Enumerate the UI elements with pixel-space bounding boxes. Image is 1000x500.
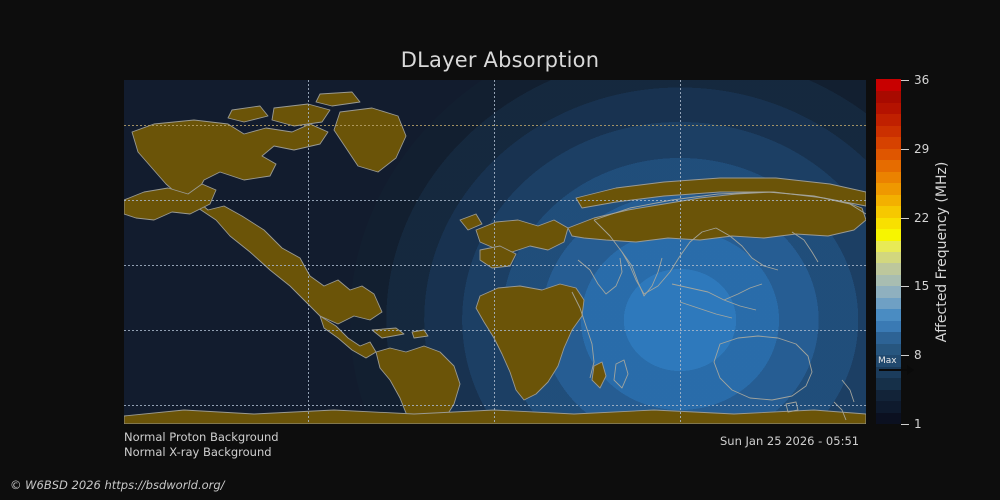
colorbar-tick-label: 15 bbox=[914, 279, 929, 293]
colorbar-segment bbox=[876, 114, 901, 126]
colorbar-segment bbox=[876, 102, 901, 114]
colorbar-tick bbox=[901, 286, 909, 287]
colorbar-segment bbox=[876, 217, 901, 229]
colorbar-segment bbox=[876, 343, 901, 355]
colorbar-tick bbox=[901, 218, 909, 219]
colorbar-segment bbox=[876, 297, 901, 309]
colorbar-tick-label: 1 bbox=[914, 417, 922, 431]
dlayer-absorption-page: DLayer Absorption bbox=[0, 0, 1000, 500]
colorbar-segment bbox=[876, 263, 901, 275]
colorbar-segment bbox=[876, 125, 901, 137]
colorbar-tick-label: 36 bbox=[914, 73, 929, 87]
colorbar-segment bbox=[876, 389, 901, 401]
page-title: DLayer Absorption bbox=[0, 48, 1000, 72]
colorbar-tick bbox=[901, 149, 909, 150]
status-xray: Normal X-ray Background bbox=[124, 445, 279, 460]
max-arrow-head bbox=[907, 365, 914, 375]
colorbar-segment bbox=[876, 320, 901, 332]
timestamp: Sun Jan 25 2026 - 05:51 bbox=[720, 434, 859, 448]
colorbar-segment bbox=[876, 160, 901, 172]
status-proton: Normal Proton Background bbox=[124, 430, 279, 445]
colorbar-segment bbox=[876, 251, 901, 263]
colorbar-segment bbox=[876, 286, 901, 298]
colorbar-segment bbox=[876, 274, 901, 286]
colorbar-tick-label: 22 bbox=[914, 211, 929, 225]
colorbar-segment bbox=[876, 206, 901, 218]
colorbar-segment bbox=[876, 137, 901, 149]
colorbar-segment bbox=[876, 194, 901, 206]
colorbar-segment bbox=[876, 79, 901, 91]
colorbar-segment bbox=[876, 332, 901, 344]
colorbar-max-marker: Max bbox=[877, 356, 917, 382]
colorbar-axis-label: Affected Frequency (MHz) bbox=[930, 80, 955, 424]
colorbar-segment bbox=[876, 183, 901, 195]
max-arrow-shaft bbox=[879, 369, 909, 371]
colorbar-tick bbox=[901, 80, 909, 81]
map-graphics bbox=[124, 80, 866, 424]
colorbar-segment bbox=[876, 400, 901, 412]
colorbar-segment bbox=[876, 309, 901, 321]
colorbar-segment bbox=[876, 240, 901, 252]
world-map-plot[interactable] bbox=[124, 80, 866, 424]
status-block: Normal Proton Background Normal X-ray Ba… bbox=[124, 430, 279, 460]
colorbar-segment bbox=[876, 148, 901, 160]
colorbar-tick-label: 29 bbox=[914, 142, 929, 156]
colorbar-segment bbox=[876, 91, 901, 103]
colorbar-segment bbox=[876, 171, 901, 183]
colorbar-segment bbox=[876, 228, 901, 240]
colorbar-tick bbox=[901, 424, 909, 425]
copyright-notice: © W6BSD 2026 https://bsdworld.org/ bbox=[10, 478, 225, 492]
colorbar-segment bbox=[876, 412, 901, 424]
map-canvas bbox=[124, 80, 866, 424]
